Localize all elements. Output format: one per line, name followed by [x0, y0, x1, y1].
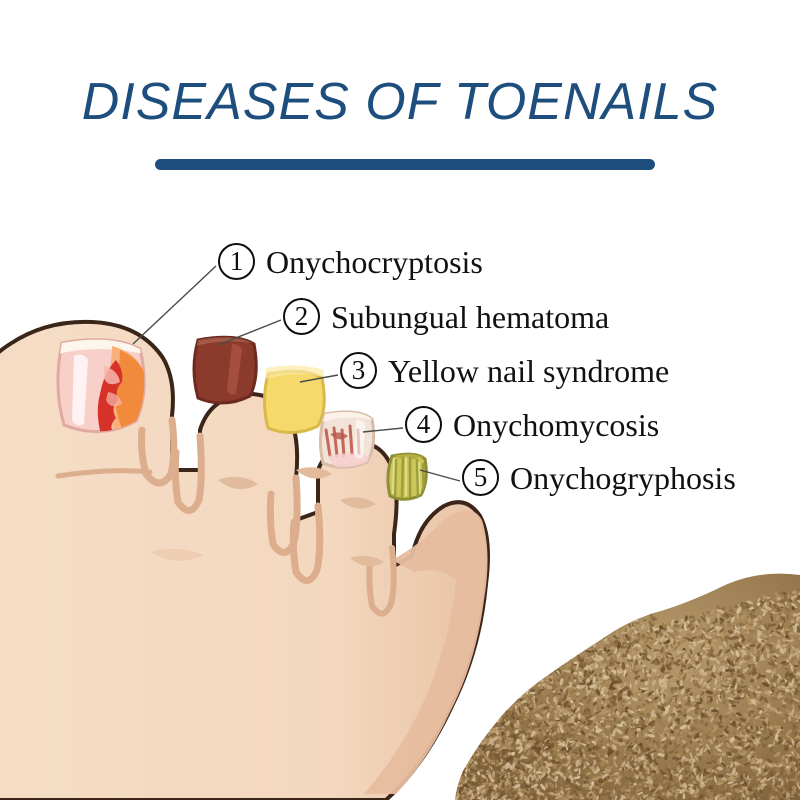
- third-toe-nail: [265, 365, 325, 432]
- carom-seed-pile-photo: [455, 555, 800, 800]
- legend-item-5[interactable]: 5 Onychogryphosis: [462, 459, 736, 496]
- legend-number-5: 5: [462, 459, 499, 496]
- legend-item-1[interactable]: 1 Onychocryptosis: [218, 243, 483, 280]
- legend-number-4: 4: [405, 406, 442, 443]
- second-toe-nail: [194, 331, 256, 403]
- legend-label-1: Onychocryptosis: [266, 246, 483, 278]
- legend-label-2: Subungual hematoma: [331, 301, 609, 333]
- legend-item-2[interactable]: 2 Subungual hematoma: [283, 298, 609, 335]
- infographic-canvas: DISEASES OF TOENAILS: [0, 0, 800, 800]
- legend-number-2: 2: [283, 298, 320, 335]
- legend-item-3[interactable]: 3 Yellow nail syndrome: [340, 352, 669, 389]
- legend-label-5: Onychogryphosis: [510, 462, 736, 494]
- legend-item-4[interactable]: 4 Onychomycosis: [405, 406, 659, 443]
- fifth-toe-nail: [388, 450, 428, 499]
- legend-label-3: Yellow nail syndrome: [388, 355, 669, 387]
- legend-number-1: 1: [218, 243, 255, 280]
- legend-number-3: 3: [340, 352, 377, 389]
- fourth-toe-nail: [320, 407, 374, 470]
- legend-label-4: Onychomycosis: [453, 409, 659, 441]
